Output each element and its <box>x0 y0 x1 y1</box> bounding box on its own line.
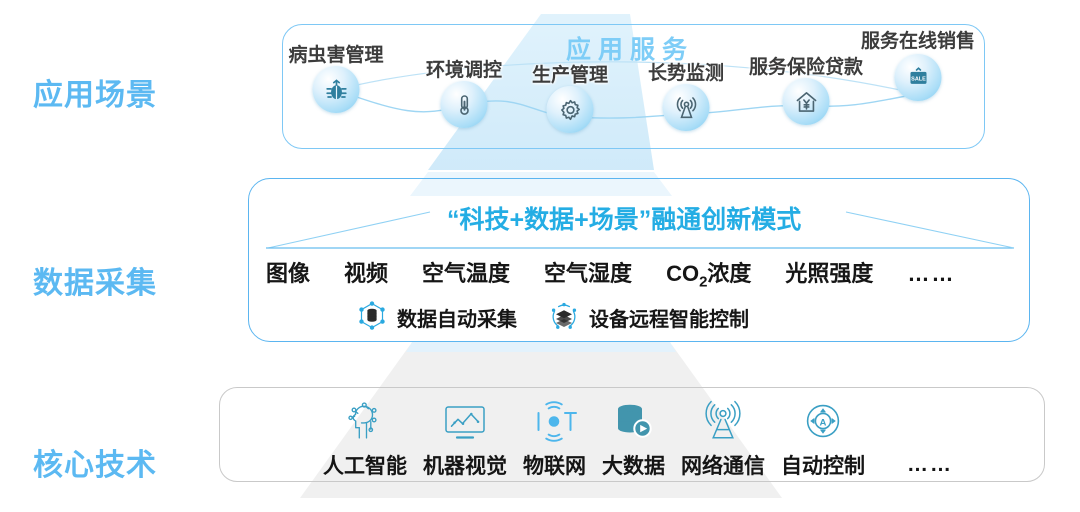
tech-item-label: 大数据 <box>602 450 665 480</box>
tech-item-network-comm[interactable]: 网络通信 <box>681 398 765 480</box>
big-data-icon <box>609 398 659 446</box>
tech-ellipsis: …… <box>907 453 953 477</box>
auto-control-icon: A <box>798 398 848 446</box>
tech-item-label: 网络通信 <box>681 450 765 480</box>
tech-item-ai[interactable]: 人工智能 <box>323 398 407 480</box>
tech-item-label: 物联网 <box>523 450 586 480</box>
core-technology-row: 人工智能 机器视觉 <box>0 0 1080 512</box>
iot-icon <box>530 398 580 446</box>
antenna-signal-icon <box>697 398 749 446</box>
diagram-canvas: 应用场景 数据采集 核心技术 应用服务 病虫害管理 <box>0 0 1080 512</box>
tech-item-auto-control[interactable]: A 自动控制 <box>781 398 865 480</box>
ai-brain-icon <box>341 398 389 446</box>
tech-item-label: 机器视觉 <box>423 450 507 480</box>
monitor-chart-icon <box>440 398 490 446</box>
svg-text:A: A <box>820 417 827 428</box>
tech-item-big-data[interactable]: 大数据 <box>602 398 665 480</box>
tech-item-label: 自动控制 <box>781 450 865 480</box>
tech-item-machine-vision[interactable]: 机器视觉 <box>423 398 507 480</box>
tech-item-list: 人工智能 机器视觉 <box>323 398 953 480</box>
tech-item-label: 人工智能 <box>323 450 407 480</box>
tech-item-iot[interactable]: 物联网 <box>523 398 586 480</box>
